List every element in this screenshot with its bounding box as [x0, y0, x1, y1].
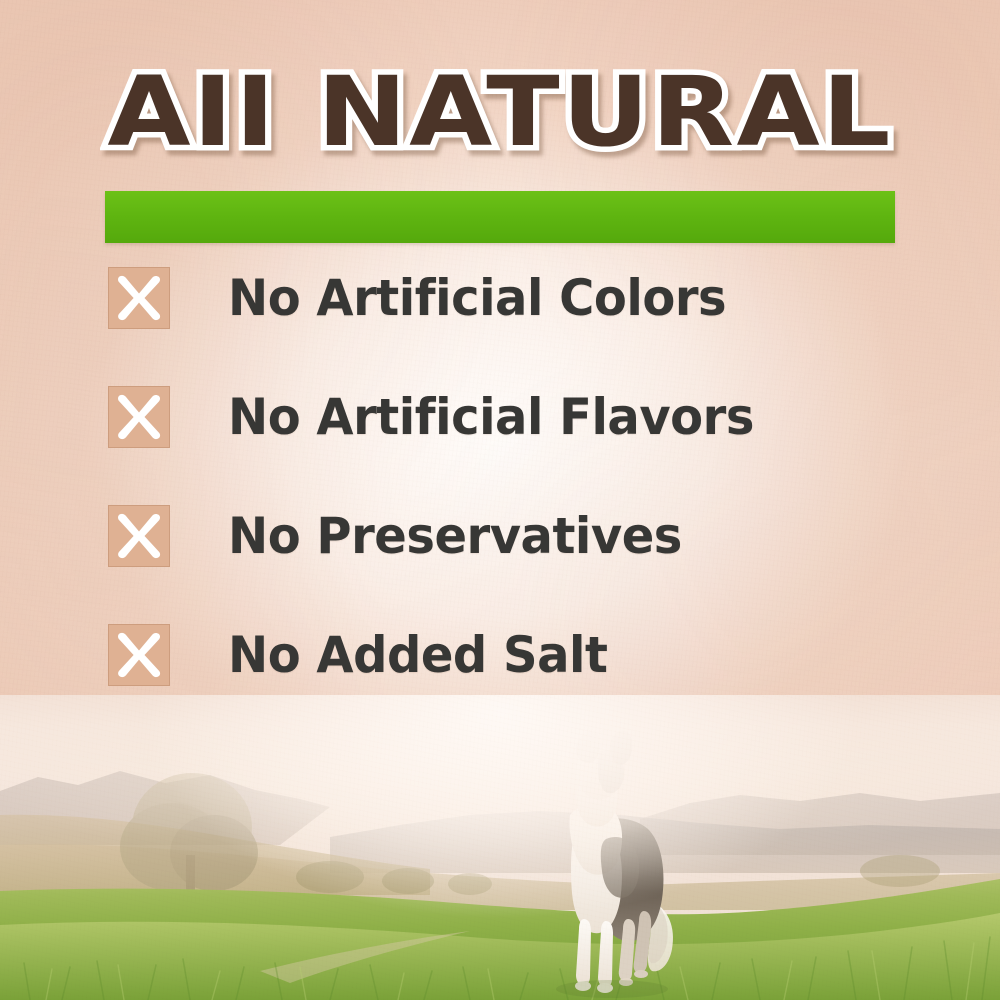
list-item: No Preservatives: [108, 505, 928, 567]
x-mark-icon: [108, 267, 170, 329]
list-item: No Artificial Colors: [108, 267, 928, 329]
x-mark-icon: [108, 505, 170, 567]
all-natural-poster: AII NATURAL No Artificial Colors No Arti…: [0, 0, 1000, 1000]
list-item-label: No Preservatives: [228, 507, 682, 565]
list-item: No Added Salt: [108, 624, 928, 686]
headline-area: AII NATURAL: [0, 60, 1000, 200]
headline-green-banner: [105, 191, 895, 243]
page-title: AII NATURAL: [0, 60, 1000, 164]
claims-list: No Artificial Colors No Artificial Flavo…: [108, 267, 928, 686]
list-item-label: No Artificial Flavors: [228, 388, 754, 446]
list-item: No Artificial Flavors: [108, 386, 928, 448]
x-mark-icon: [108, 386, 170, 448]
list-item-label: No Added Salt: [228, 626, 607, 684]
list-item-label: No Artificial Colors: [228, 269, 726, 327]
x-mark-icon: [108, 624, 170, 686]
dog-in-meadow-photo: [0, 695, 1000, 1000]
